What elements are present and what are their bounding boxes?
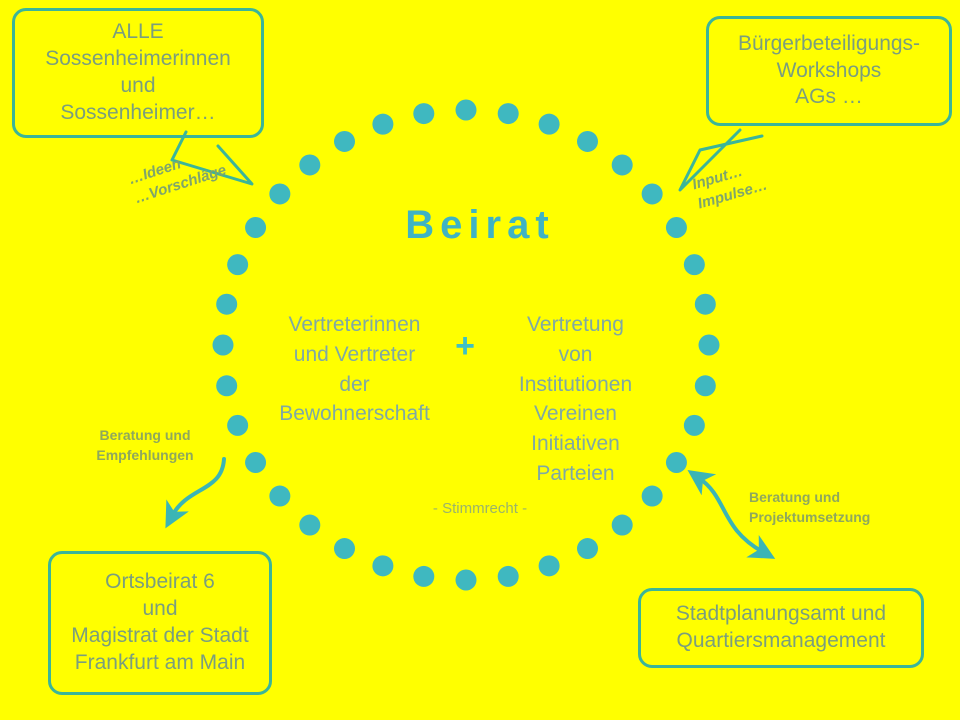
callout-box-bottom-right[interactable]: Stadtplanungsamt und Quartiersmanagement bbox=[638, 588, 924, 668]
ring-dot bbox=[699, 335, 720, 356]
ring-dot bbox=[372, 114, 393, 135]
diagram-canvas: Beirat Vertreterinnen und Vertreter der … bbox=[0, 0, 960, 720]
callout-box-top-left[interactable]: ALLE Sossenheimerinnen und Sossenheimer… bbox=[12, 8, 264, 138]
connector-label-beratung-projektumsetzung: Beratung und Projektumsetzung bbox=[749, 488, 907, 528]
connector-label-beratung-empfehlungen: Beratung und Empfehlungen bbox=[80, 426, 210, 466]
ring-dot bbox=[684, 415, 705, 436]
ring-dot bbox=[456, 100, 477, 121]
connector-label-ideen-vorschlaege: …Ideen …Vorschläge bbox=[126, 142, 229, 210]
ring-dot bbox=[299, 515, 320, 536]
ring-dot bbox=[577, 538, 598, 559]
ring-dot bbox=[695, 294, 716, 315]
callout-box-bottom-left[interactable]: Ortsbeirat 6 und Magistrat der Stadt Fra… bbox=[48, 551, 272, 695]
ring-dot bbox=[612, 515, 633, 536]
ring-dot bbox=[269, 183, 290, 204]
ring-dot bbox=[456, 570, 477, 591]
ring-dot bbox=[213, 335, 234, 356]
center-left-column: Vertreterinnen und Vertreter der Bewohne… bbox=[263, 310, 446, 429]
ring-dot bbox=[334, 131, 355, 152]
ring-dot bbox=[666, 452, 687, 473]
ring-dot bbox=[612, 154, 633, 175]
ring-dot bbox=[216, 375, 237, 396]
ring-dot bbox=[695, 375, 716, 396]
ring-dot bbox=[684, 254, 705, 275]
diagram-title: Beirat bbox=[0, 203, 960, 248]
ring-dot bbox=[539, 114, 560, 135]
ring-dot bbox=[413, 103, 434, 124]
plus-icon: + bbox=[446, 329, 484, 363]
center-right-column: Vertretung von Institutionen Vereinen In… bbox=[484, 310, 667, 489]
ring-dot bbox=[498, 103, 519, 124]
callout-box-top-right[interactable]: Bürgerbeteiligungs- Workshops AGs … bbox=[706, 16, 952, 126]
ring-dot bbox=[372, 555, 393, 576]
ring-dot bbox=[334, 538, 355, 559]
ring-dot bbox=[227, 254, 248, 275]
ring-dot bbox=[642, 183, 663, 204]
ring-dot bbox=[245, 452, 266, 473]
ring-dot bbox=[539, 555, 560, 576]
ring-dot bbox=[299, 154, 320, 175]
ring-dot bbox=[577, 131, 598, 152]
ring-dot bbox=[413, 566, 434, 587]
ring-dot bbox=[216, 294, 237, 315]
ring-dot bbox=[498, 566, 519, 587]
ring-dot bbox=[227, 415, 248, 436]
